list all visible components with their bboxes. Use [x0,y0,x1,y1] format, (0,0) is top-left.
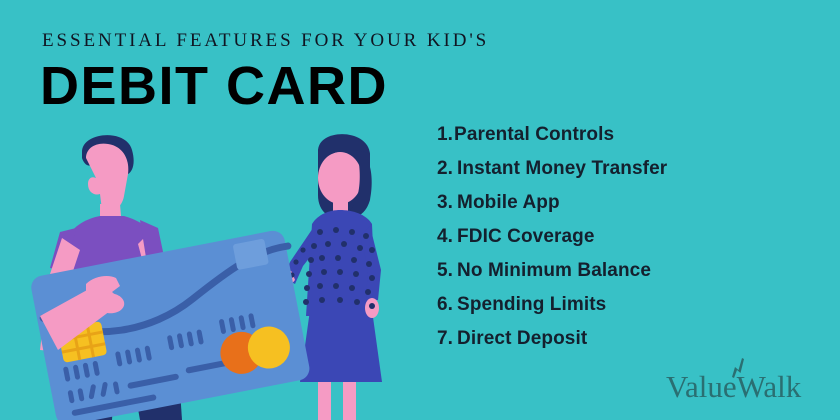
list-item-label: Mobile App [457,192,560,214]
list-item-label: No Minimum Balance [457,260,651,282]
list-item-number: 6. [437,294,453,316]
infographic-canvas: ESSENTIAL FEATURES FOR YOUR KID'S DEBIT … [0,0,840,420]
valuewalk-logo: ValueWalk [666,356,816,402]
list-item: 3. Mobile App [437,192,787,226]
list-item: 2. Instant Money Transfer [437,158,787,192]
list-item-number: 3. [437,192,453,214]
list-item-number: 1. [437,124,453,146]
illustration [0,120,420,420]
list-item: 1. Parental Controls [437,124,787,158]
list-item-number: 5. [437,260,453,282]
list-item-label: Spending Limits [457,294,606,316]
list-item-label: FDIC Coverage [457,226,595,248]
page-title: DEBIT CARD [40,58,388,115]
growth-arrow-icon [729,358,747,378]
list-item: 5. No Minimum Balance [437,260,787,294]
list-item: 4. FDIC Coverage [437,226,787,260]
list-item-label: Parental Controls [454,124,614,146]
list-item-label: Direct Deposit [457,328,587,350]
list-item-number: 4. [437,226,453,248]
list-item-label: Instant Money Transfer [457,158,667,180]
list-item-number: 2. [437,158,453,180]
kicker-text: ESSENTIAL FEATURES FOR YOUR KID'S [42,31,489,50]
list-item: 6. Spending Limits [437,294,787,328]
feature-list: 1. Parental Controls 2. Instant Money Tr… [437,124,787,362]
list-item-number: 7. [437,328,453,350]
